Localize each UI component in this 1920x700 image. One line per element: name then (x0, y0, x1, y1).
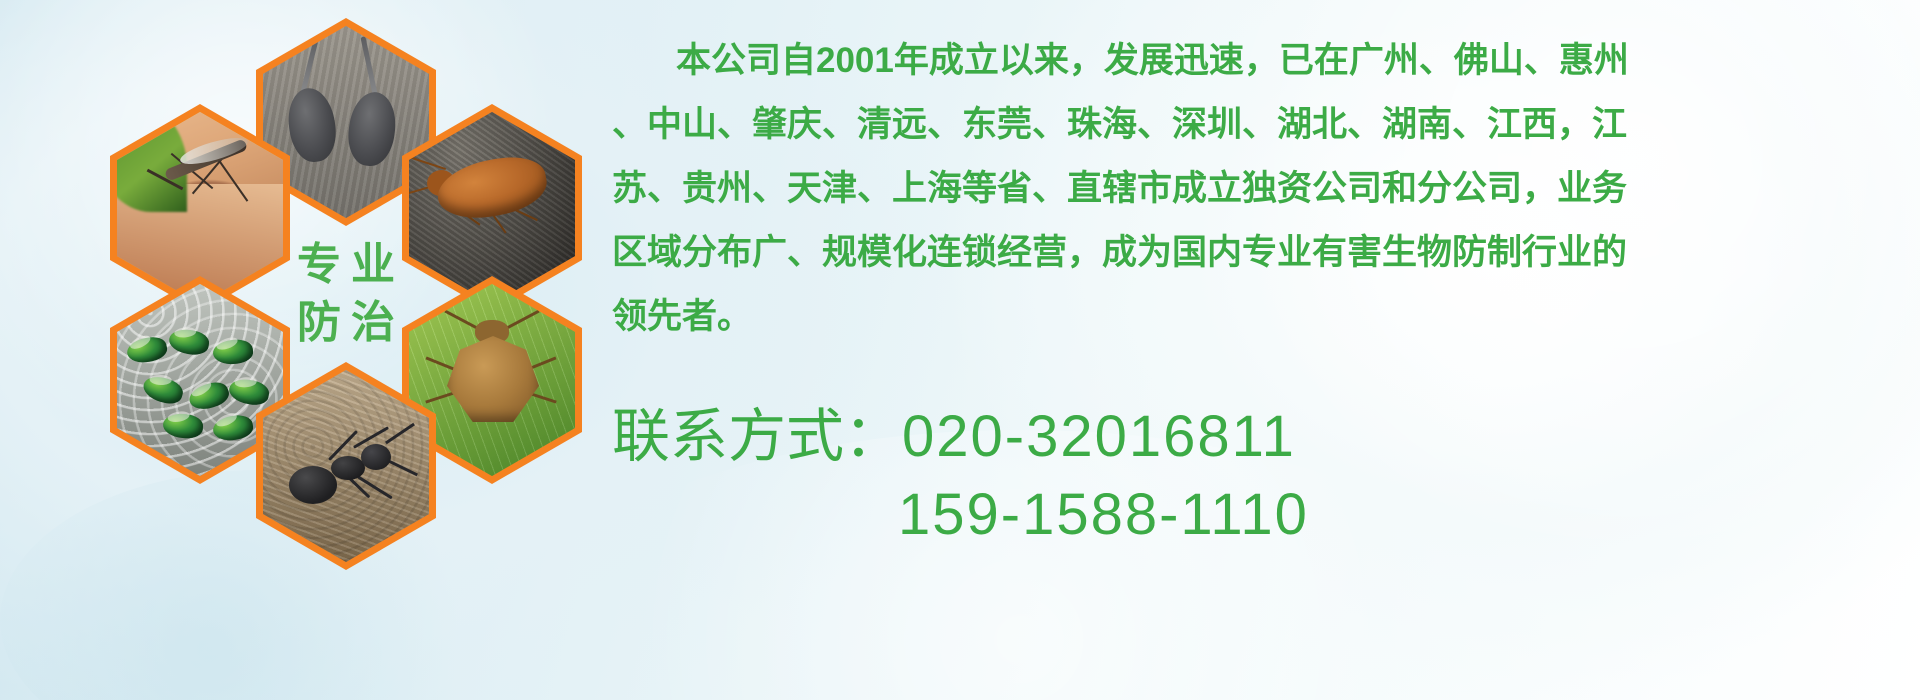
brand-slogan-badge: 专业 防治 (256, 190, 436, 398)
contact-phone-primary[interactable]: 020-32016811 (902, 404, 1296, 469)
about-line-5: 领先者。 (612, 290, 1912, 344)
honeycomb-collage: 专业 防治 (80, 8, 600, 568)
contact-secondary-row: 159-1588-1110 (612, 476, 1912, 554)
about-line-4: 区域分布广、规模化连锁经营，成为国内专业有害生物防制行业的 (612, 226, 1912, 280)
about-line-3: 苏、贵州、天津、上海等省、直辖市成立独资公司和分公司，业务 (612, 162, 1912, 216)
contact-block: 联系方式：020-32016811 159-1588-1110 (612, 398, 1912, 554)
slogan-line-1: 专业 (287, 243, 405, 287)
ant-photo (263, 370, 429, 562)
slogan-line-2: 防治 (287, 301, 405, 345)
hex-photo-ant-clip (263, 370, 429, 562)
about-line-1: 本公司自2001年成立以来，发展迅速，已在广州、佛山、惠州 (612, 34, 1912, 88)
contact-phone-secondary[interactable]: 159-1588-1110 (898, 482, 1309, 547)
contact-primary-row: 联系方式：020-32016811 (612, 398, 1912, 476)
contact-label: 联系方式： (612, 404, 902, 469)
promo-banner: 专业 防治 本公司自2001年成立以来，发展迅速，已在广州、佛山、惠州 、中山、… (0, 0, 1920, 700)
about-paragraph: 本公司自2001年成立以来，发展迅速，已在广州、佛山、惠州 、中山、肇庆、清远、… (612, 34, 1912, 354)
about-line-2: 、中山、肇庆、清远、东莞、珠海、深圳、湖北、湖南、江西，江 (612, 98, 1912, 152)
